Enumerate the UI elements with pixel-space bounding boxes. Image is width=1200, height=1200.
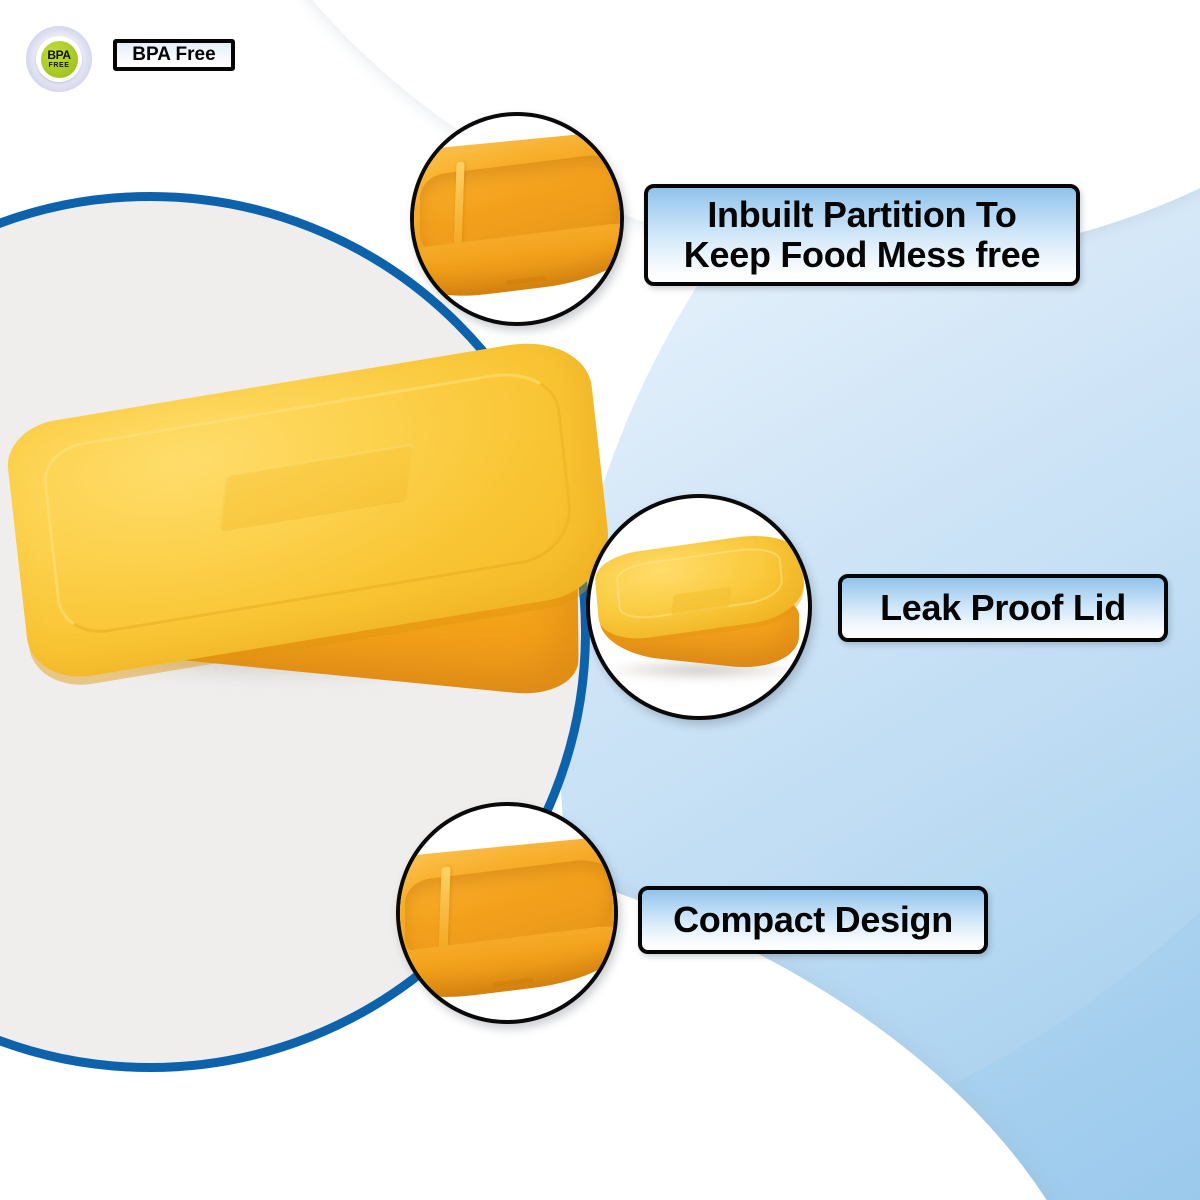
feature-thumb-partition <box>410 112 624 326</box>
feature-label-leak-proof-text: Leak Proof Lid <box>880 588 1126 628</box>
bpa-seal-core: BPA FREE <box>41 41 78 78</box>
main-product-photo <box>8 372 608 712</box>
open-tray-with-partition-icon <box>410 140 624 322</box>
feature-label-partition-line2: Keep Food Mess free <box>684 234 1040 275</box>
bpa-seal-line1: BPA <box>47 49 70 61</box>
bpa-free-tag: BPA Free <box>113 39 235 71</box>
feature-label-compact: Compact Design <box>638 886 988 954</box>
infographic-canvas: Inbuilt Partition ToKeep Food Mess free … <box>0 0 1200 1200</box>
bpa-free-seal-icon: BPA FREE <box>26 26 92 92</box>
feature-thumb-compact <box>396 802 618 1024</box>
feature-label-leak-proof: Leak Proof Lid <box>838 574 1168 642</box>
bpa-seal-line2: FREE <box>48 62 69 69</box>
feature-thumb-leak-proof <box>586 494 812 720</box>
open-tray-angled-icon <box>396 846 618 1022</box>
feature-label-partition-text: Inbuilt Partition ToKeep Food Mess free <box>684 195 1040 276</box>
feature-label-partition: Inbuilt Partition ToKeep Food Mess free <box>644 184 1080 286</box>
bpa-seal-ring: BPA FREE <box>36 36 82 82</box>
feature-label-partition-line1: Inbuilt Partition To <box>707 194 1016 235</box>
closed-box-with-lid-icon <box>596 540 808 690</box>
feature-label-compact-text: Compact Design <box>673 900 953 940</box>
bpa-free-tag-text: BPA Free <box>132 44 215 66</box>
